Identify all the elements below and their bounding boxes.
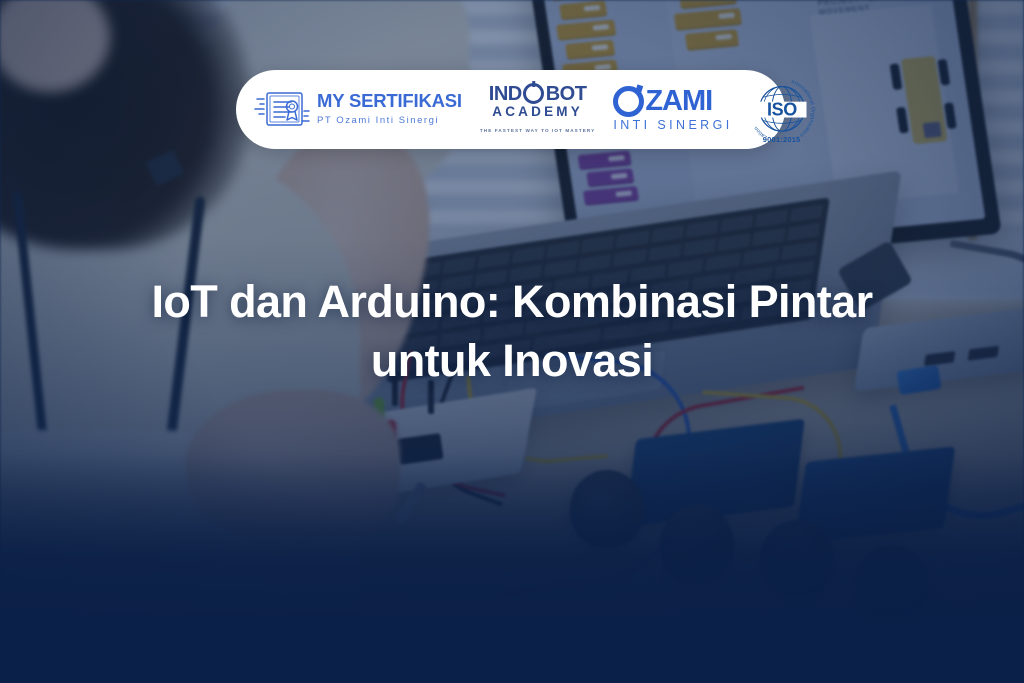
indobot-tagline: THE FASTEST WAY TO IOT MASTERY xyxy=(480,128,595,133)
indobot-wordmark: IND BOT xyxy=(480,83,595,104)
ozami-name: ZAMI xyxy=(645,87,712,116)
page-title: IoT dan Arduino: Kombinasi Pintar untuk … xyxy=(0,273,1024,390)
iso-standard-number: 9001:2015 xyxy=(763,135,801,144)
ozami-o-mark-icon xyxy=(613,86,644,117)
svg-text:ISO: ISO xyxy=(767,99,797,119)
my-sertifikasi-tagline: PT Ozami Inti Sinergi xyxy=(317,115,439,126)
indobot-name-part1: IND xyxy=(489,84,522,104)
indobot-robot-head-icon xyxy=(523,83,544,104)
logo-bar: MY SERTIFIKASI PT Ozami Inti Sinergi IND… xyxy=(236,70,785,149)
indobot-academy-label: ACADEMY xyxy=(492,104,583,119)
bottom-fade-overlay xyxy=(0,453,1024,683)
logo-my-sertifikasi: MY SERTIFIKASI PT Ozami Inti Sinergi xyxy=(254,89,472,131)
ozami-wordmark: ZAMI xyxy=(613,86,732,117)
logo-iso-9001: International Organization for Standardi… xyxy=(743,72,821,148)
indobot-name-part2: BOT xyxy=(546,84,587,104)
logo-indobot-academy: IND BOT ACADEMY THE FASTEST WAY TO IOT M… xyxy=(472,83,603,136)
ozami-tagline: INTI SINERGI xyxy=(613,118,732,132)
banner-canvas: BLOCK IDE xyxy=(0,0,1024,683)
logo-ozami: ZAMI INTI SINERGI xyxy=(603,86,742,133)
my-sertifikasi-wordmark: MY SERTIFIKASI PT Ozami Inti Sinergi xyxy=(317,92,462,127)
iso-globe-icon: International Organization for Standardi… xyxy=(745,75,819,137)
my-sertifikasi-name: MY SERTIFIKASI xyxy=(317,90,462,111)
certificate-icon xyxy=(254,89,310,131)
